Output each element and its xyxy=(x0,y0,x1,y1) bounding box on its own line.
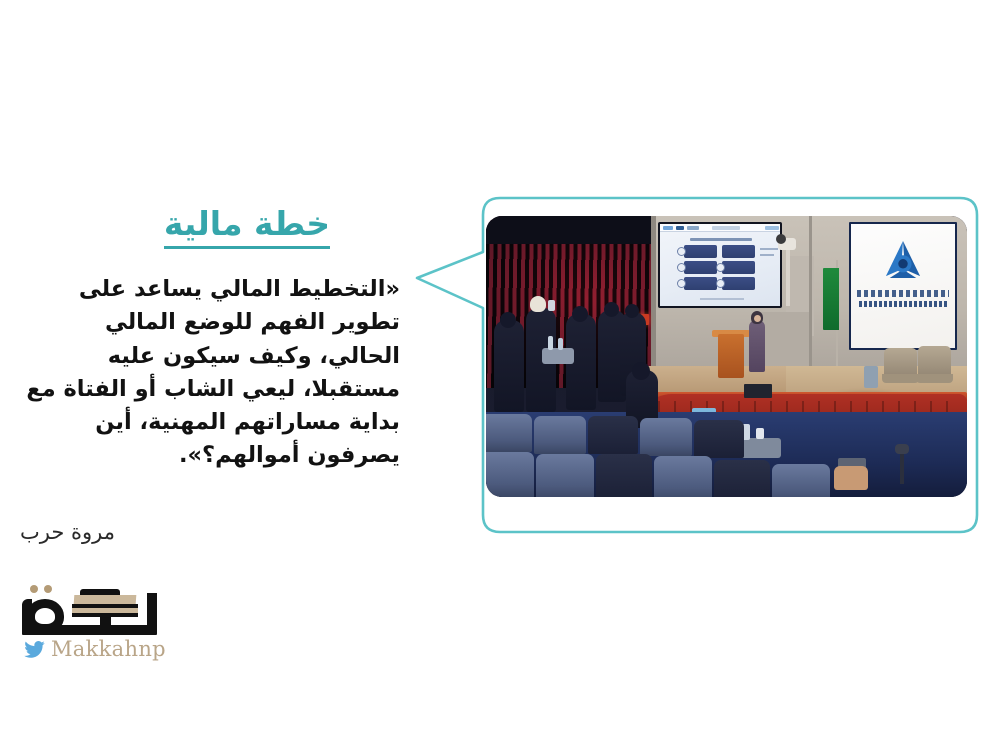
slide-node xyxy=(722,245,755,258)
attendee-head xyxy=(604,302,619,317)
wordmark-dot-icon xyxy=(30,585,38,593)
armchair-seat xyxy=(916,374,953,383)
microphone-stand xyxy=(900,450,904,484)
auditorium-seat xyxy=(486,452,534,497)
slide-node xyxy=(684,277,717,290)
slide-text-line xyxy=(760,248,778,250)
side-table xyxy=(864,366,878,388)
water-bottle xyxy=(558,338,563,350)
kaaba-band-icon xyxy=(72,608,138,613)
slide-text-line xyxy=(760,254,774,256)
slide-title-bar xyxy=(690,238,752,241)
projection-screen xyxy=(658,222,782,308)
cup xyxy=(756,428,764,439)
attendee-phone xyxy=(548,300,555,311)
wordmark-dot-icon xyxy=(44,585,52,593)
attendee-headscarf xyxy=(530,296,546,312)
ceiling-shadow xyxy=(486,216,651,244)
author-byline: مروة حرب xyxy=(20,520,320,544)
attendee-head xyxy=(572,306,588,322)
auditorium-seat xyxy=(694,420,744,458)
slide-bullet-icon xyxy=(716,263,725,272)
photo-speech-bubble xyxy=(455,190,985,550)
auditorium-seat xyxy=(640,418,692,456)
attendee-head xyxy=(500,312,516,328)
auditorium-seat xyxy=(772,464,830,497)
speaker-podium xyxy=(718,334,744,378)
asharqia-chamber-logo-icon xyxy=(884,240,922,280)
toolbar-swatch xyxy=(712,226,740,230)
slide-node xyxy=(722,261,755,274)
poster-canvas: خطة مالية «التخطيط المالي يساعد على تطوي… xyxy=(0,0,1000,750)
auditorium-seat xyxy=(534,416,586,454)
saudi-flag-icon xyxy=(823,268,839,330)
toolbar-swatch xyxy=(676,226,684,230)
toolbar-swatch xyxy=(765,226,779,230)
makkah-wordmark-icon xyxy=(22,585,157,635)
twitter-handle-label: Makkahnp xyxy=(51,637,166,661)
toolbar-swatch xyxy=(687,226,699,230)
banner-arabic-text xyxy=(857,290,949,297)
social-handle[interactable]: Makkahnp xyxy=(24,637,166,661)
microphone-icon xyxy=(895,444,909,454)
slide-footer-line xyxy=(700,298,744,300)
auditorium-seat xyxy=(714,460,770,497)
wordmark-baseline xyxy=(22,625,157,635)
attendee-head xyxy=(625,304,639,318)
article-text-column: خطة مالية «التخطيط المالي يساعد على تطوي… xyxy=(20,205,430,473)
twitter-bird-icon xyxy=(24,641,45,658)
water-bottle xyxy=(548,336,553,350)
speaker-person xyxy=(749,320,765,372)
audience-table xyxy=(542,348,574,364)
auditorium-seat xyxy=(486,414,532,452)
stage-laptop xyxy=(744,384,772,398)
photographer-hands xyxy=(834,466,868,490)
banner-english-text xyxy=(859,301,947,307)
kaaba-roof-icon xyxy=(74,595,137,604)
auditorium-seat xyxy=(588,416,638,454)
slide-bullet-icon xyxy=(677,279,686,288)
brand-logo[interactable]: Makkahnp xyxy=(22,585,192,665)
slide-content xyxy=(660,224,780,306)
wall-panel xyxy=(809,216,812,386)
slide-bullet-icon xyxy=(677,247,686,256)
attendee-silhouette xyxy=(494,320,524,412)
armchair-seat xyxy=(882,374,919,383)
auditorium-seat xyxy=(654,456,712,497)
attendee-head xyxy=(632,362,650,380)
camera-lens-icon xyxy=(776,234,786,244)
conference-photo xyxy=(486,216,967,497)
camera-pole xyxy=(786,248,790,306)
slide-toolbar xyxy=(660,224,780,232)
auditorium-seat xyxy=(596,454,652,497)
slide-node xyxy=(684,261,717,274)
auditorium-seat xyxy=(536,454,594,497)
toolbar-swatch xyxy=(663,226,673,230)
slide-bullet-icon xyxy=(677,263,686,272)
page-title: خطة مالية xyxy=(164,205,330,249)
slide-node xyxy=(684,245,717,258)
article-quote: «التخطيط المالي يساعد على تطوير الفهم لل… xyxy=(20,273,430,473)
speaker-face xyxy=(754,315,761,322)
slide-bullet-icon xyxy=(716,279,725,288)
slide-node xyxy=(722,277,755,290)
